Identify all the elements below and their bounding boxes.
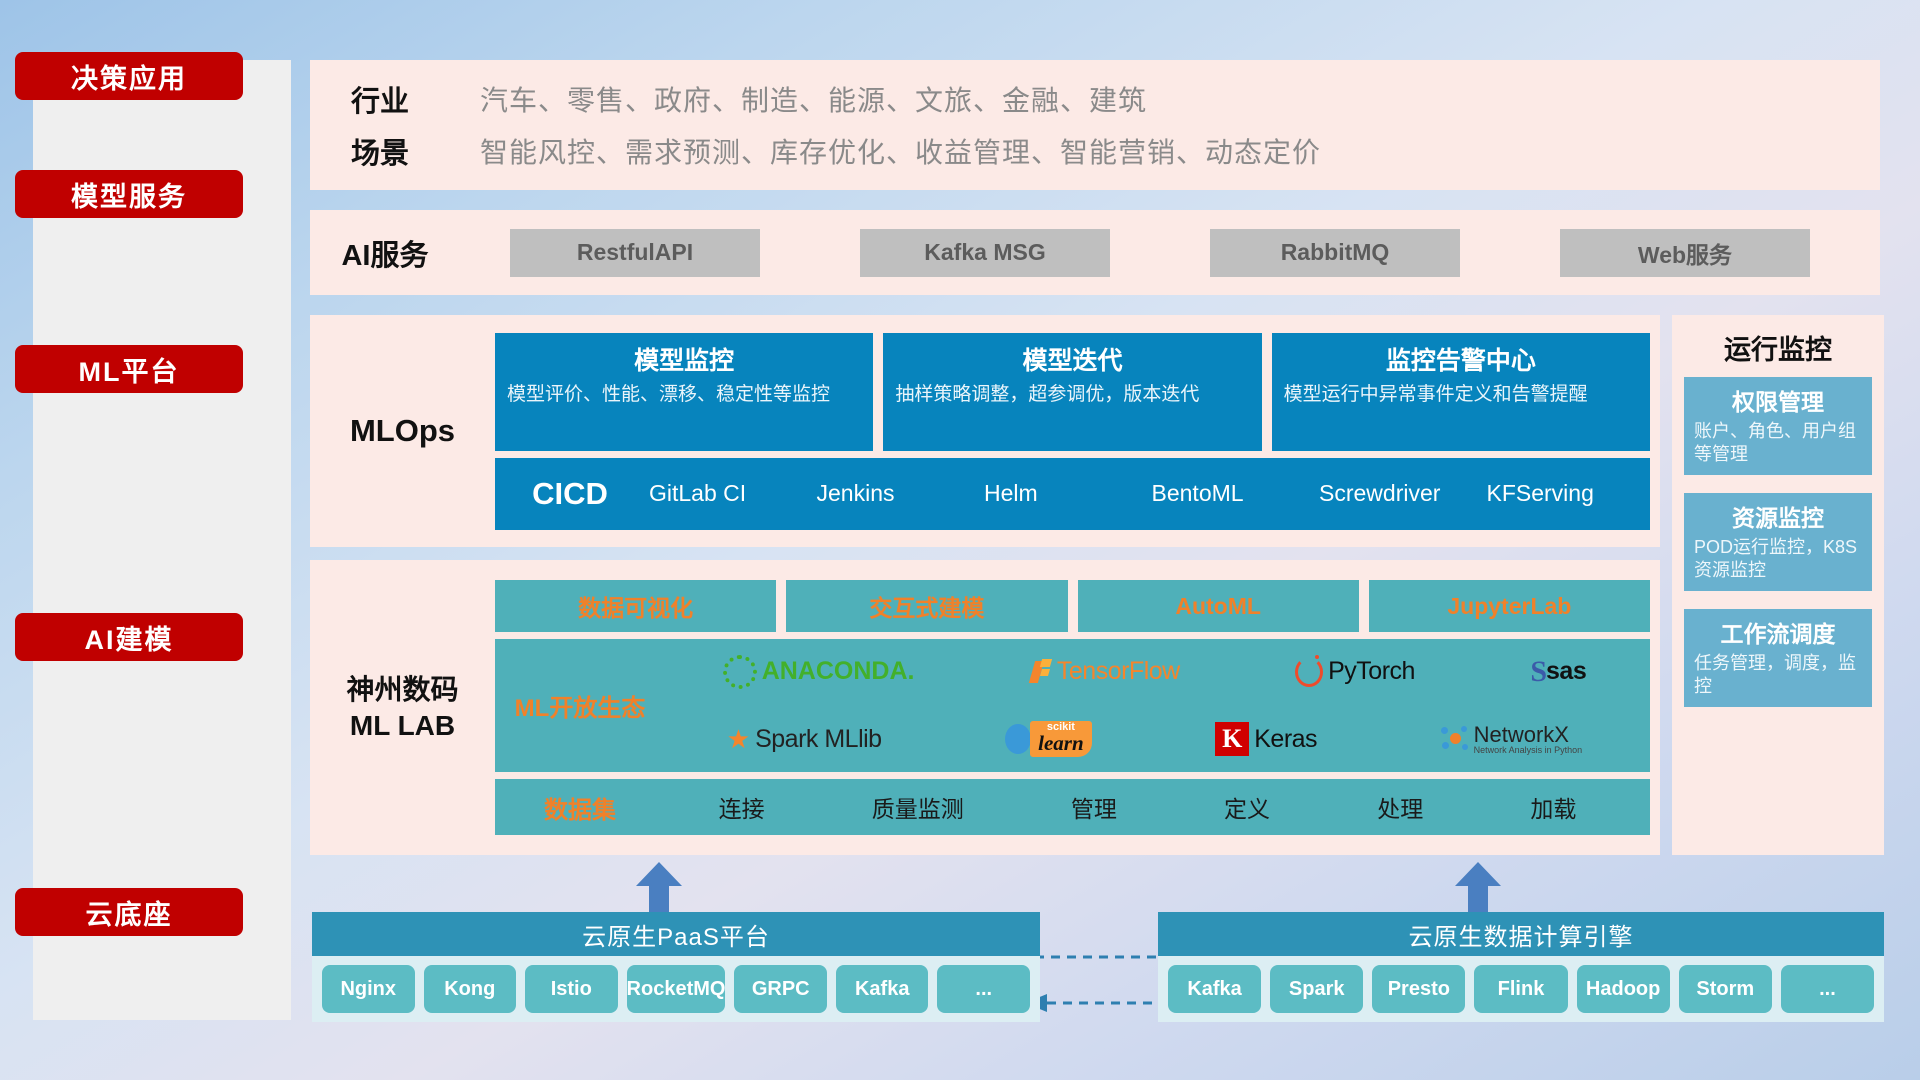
- ml-lab-label: 神州数码 ML LAB: [310, 672, 495, 744]
- monitor-card-permission[interactable]: 权限管理 账户、角色、用户组等管理: [1684, 377, 1872, 475]
- service-button-restfulapi[interactable]: RestfulAPI: [510, 229, 760, 277]
- anaconda-logo: ANACONDA.: [723, 655, 915, 689]
- engine-tile-spark[interactable]: Spark: [1270, 965, 1363, 1013]
- ml-lab-panel: 神州数码 ML LAB 数据可视化 交互式建模 AutoML JupyterLa…: [310, 560, 1660, 855]
- sidebar-item-cloud-base[interactable]: 云底座: [15, 888, 243, 936]
- scikit-learn-icon: [1005, 724, 1031, 754]
- pytorch-label: PyTorch: [1328, 657, 1415, 686]
- sidebar-item-decision-app[interactable]: 决策应用: [15, 52, 243, 100]
- mlops-card-model-iteration[interactable]: 模型迭代 抽样策略调整，超参调优，版本迭代: [883, 333, 1261, 451]
- industry-list: 汽车、零售、政府、制造、能源、文旅、金融、建筑: [480, 79, 1147, 119]
- ml-lab-label-line2: ML LAB: [310, 708, 495, 744]
- dataset-row: 数据集 连接 质量监测 管理 定义 处理 加载: [495, 779, 1650, 835]
- card-desc: 抽样策略调整，超参调优，版本迭代: [895, 383, 1249, 407]
- cicd-item-bentoml[interactable]: BentoML: [1148, 482, 1316, 505]
- anaconda-icon: [723, 655, 757, 689]
- networkx-label-group: NetworkX Network Analysis in Python: [1474, 724, 1583, 755]
- keras-label: Keras: [1254, 725, 1317, 754]
- sidebar-item-label: 决策应用: [71, 57, 187, 96]
- sidebar-item-ai-modeling[interactable]: AI建模: [15, 613, 243, 661]
- cicd-item-gitlab-ci[interactable]: GitLab CI: [645, 482, 813, 505]
- networkx-label: NetworkX: [1474, 724, 1583, 746]
- data-engine-box: 云原生数据计算引擎 Kafka Spark Presto Flink Hadoo…: [1158, 912, 1884, 1022]
- scenario-list: 智能风控、需求预测、库存优化、收益管理、智能营销、动态定价: [480, 131, 1321, 171]
- paas-tile-kong[interactable]: Kong: [424, 965, 517, 1013]
- engine-tile-kafka[interactable]: Kafka: [1168, 965, 1261, 1013]
- paas-tile-list: Nginx Kong Istio RocketMQ GRPC Kafka ...: [312, 956, 1040, 1022]
- anaconda-label: ANACONDA.: [762, 657, 915, 686]
- engine-tile-hadoop[interactable]: Hadoop: [1577, 965, 1670, 1013]
- card-title: 监控告警中心: [1284, 341, 1638, 377]
- card-title: 模型迭代: [895, 341, 1249, 377]
- card-desc: 模型评价、性能、漂移、稳定性等监控: [507, 383, 861, 407]
- data-engine-title: 云原生数据计算引擎: [1158, 912, 1884, 956]
- service-button-web[interactable]: Web服务: [1560, 229, 1810, 277]
- cicd-title: CICD: [495, 476, 645, 512]
- card-desc: 账户、角色、用户组等管理: [1694, 420, 1862, 465]
- sas-icon: S: [1530, 655, 1547, 689]
- keras-logo: K Keras: [1215, 722, 1317, 756]
- ml-ecosystem-label: ML开放生态: [495, 688, 665, 723]
- dataset-item-connect[interactable]: 连接: [719, 790, 765, 824]
- mlops-panel: MLOps 模型监控 模型评价、性能、漂移、稳定性等监控 模型迭代 抽样策略调整…: [310, 315, 1660, 547]
- cicd-bar: CICD GitLab CI Jenkins Helm BentoML Scre…: [495, 458, 1650, 530]
- dataset-item-manage[interactable]: 管理: [1071, 790, 1117, 824]
- runtime-monitor-panel: 运行监控 权限管理 账户、角色、用户组等管理 资源监控 POD运行监控，K8S资…: [1672, 315, 1884, 855]
- tensorflow-label: TensorFlow: [1057, 657, 1180, 686]
- sidebar-item-label: 云底座: [86, 893, 173, 932]
- sidebar-item-label: ML平台: [79, 350, 180, 389]
- paas-tile-istio[interactable]: Istio: [525, 965, 618, 1013]
- lab-tab-automl[interactable]: AutoML: [1078, 580, 1359, 632]
- cicd-item-kfserving[interactable]: KFServing: [1483, 482, 1651, 505]
- industry-label: 行业: [310, 78, 450, 120]
- industry-scenario-panel: 行业 场景 汽车、零售、政府、制造、能源、文旅、金融、建筑 智能风控、需求预测、…: [310, 60, 1880, 190]
- scikit-learn-logo: scikitlearn: [1005, 721, 1092, 757]
- tensorflow-logo: TensorFlow: [1030, 657, 1180, 686]
- paas-platform-box: 云原生PaaS平台 Nginx Kong Istio RocketMQ GRPC…: [312, 912, 1040, 1022]
- card-title: 资源监控: [1694, 499, 1862, 533]
- card-desc: POD运行监控，K8S资源监控: [1694, 536, 1862, 581]
- scikit-learn-label: scikitlearn: [1030, 721, 1092, 757]
- service-button-rabbitmq[interactable]: RabbitMQ: [1210, 229, 1460, 277]
- mlops-label: MLOps: [310, 413, 495, 449]
- cicd-item-jenkins[interactable]: Jenkins: [813, 482, 981, 505]
- engine-tile-presto[interactable]: Presto: [1372, 965, 1465, 1013]
- paas-platform-title: 云原生PaaS平台: [312, 912, 1040, 956]
- mlops-card-model-monitoring[interactable]: 模型监控 模型评价、性能、漂移、稳定性等监控: [495, 333, 873, 451]
- ai-service-panel: AI服务 RestfulAPI Kafka MSG RabbitMQ Web服务: [310, 210, 1880, 295]
- data-engine-tile-list: Kafka Spark Presto Flink Hadoop Storm ..…: [1158, 956, 1884, 1022]
- pytorch-icon: [1295, 657, 1323, 687]
- keras-icon: K: [1215, 722, 1249, 756]
- card-desc: 模型运行中异常事件定义和告警提醒: [1284, 383, 1638, 407]
- card-title: 模型监控: [507, 341, 861, 377]
- tensorflow-icon: [1030, 659, 1052, 685]
- lab-tab-jupyterlab[interactable]: JupyterLab: [1369, 580, 1650, 632]
- sidebar-item-model-service[interactable]: 模型服务: [15, 170, 243, 218]
- sas-logo: S sas: [1530, 655, 1586, 689]
- dataset-item-define[interactable]: 定义: [1224, 790, 1270, 824]
- dataset-item-load[interactable]: 加载: [1530, 790, 1576, 824]
- lab-tab-data-visualization[interactable]: 数据可视化: [495, 580, 776, 632]
- lab-tab-interactive-modeling[interactable]: 交互式建模: [786, 580, 1067, 632]
- cicd-item-helm[interactable]: Helm: [980, 482, 1148, 505]
- card-title: 工作流调度: [1694, 615, 1862, 649]
- networkx-logo: NetworkX Network Analysis in Python: [1441, 724, 1583, 755]
- pytorch-logo: PyTorch: [1295, 657, 1415, 687]
- paas-tile-rocketmq[interactable]: RocketMQ: [627, 965, 726, 1013]
- ml-lab-label-line1: 神州数码: [310, 672, 495, 708]
- dataset-item-quality[interactable]: 质量监测: [872, 790, 964, 824]
- sas-label: sas: [1546, 657, 1586, 686]
- paas-tile-grpc[interactable]: GRPC: [734, 965, 827, 1013]
- networkx-icon: [1441, 726, 1469, 752]
- paas-tile-nginx[interactable]: Nginx: [322, 965, 415, 1013]
- engine-tile-flink[interactable]: Flink: [1474, 965, 1567, 1013]
- runtime-monitor-title: 运行监控: [1672, 315, 1884, 377]
- scenario-label: 场景: [310, 130, 450, 172]
- mlops-card-alert-center[interactable]: 监控告警中心 模型运行中异常事件定义和告警提醒: [1272, 333, 1650, 451]
- card-desc: 任务管理，调度，监控: [1694, 652, 1862, 697]
- dataset-item-process[interactable]: 处理: [1377, 790, 1423, 824]
- sidebar-item-label: AI建模: [85, 618, 174, 657]
- spark-icon: ★: [727, 724, 750, 755]
- sidebar-item-label: 模型服务: [71, 175, 187, 214]
- architecture-diagram: 决策应用 模型服务 ML平台 AI建模 云底座 行业 场景 汽车、零售、政府、制…: [0, 0, 1920, 1080]
- cicd-item-screwdriver[interactable]: Screwdriver: [1315, 482, 1483, 505]
- ai-service-label: AI服务: [310, 232, 460, 274]
- card-title: 权限管理: [1694, 383, 1862, 417]
- service-button-kafka-msg[interactable]: Kafka MSG: [860, 229, 1110, 277]
- engine-tile-storm[interactable]: Storm: [1679, 965, 1772, 1013]
- monitor-card-workflow[interactable]: 工作流调度 任务管理，调度，监控: [1684, 609, 1872, 707]
- paas-tile-kafka[interactable]: Kafka: [836, 965, 929, 1013]
- spark-mllib-logo: ★ Spark MLlib: [727, 724, 882, 755]
- ml-ecosystem-row: ML开放生态 ANACONDA. TensorFlow: [495, 639, 1650, 772]
- networkx-tagline: Network Analysis in Python: [1474, 746, 1583, 755]
- dataset-label: 数据集: [495, 790, 665, 825]
- monitor-card-resource[interactable]: 资源监控 POD运行监控，K8S资源监控: [1684, 493, 1872, 591]
- spark-mllib-label: Spark MLlib: [755, 725, 882, 754]
- sidebar-item-ml-platform[interactable]: ML平台: [15, 345, 243, 393]
- engine-tile-more[interactable]: ...: [1781, 965, 1874, 1013]
- paas-tile-more[interactable]: ...: [937, 965, 1030, 1013]
